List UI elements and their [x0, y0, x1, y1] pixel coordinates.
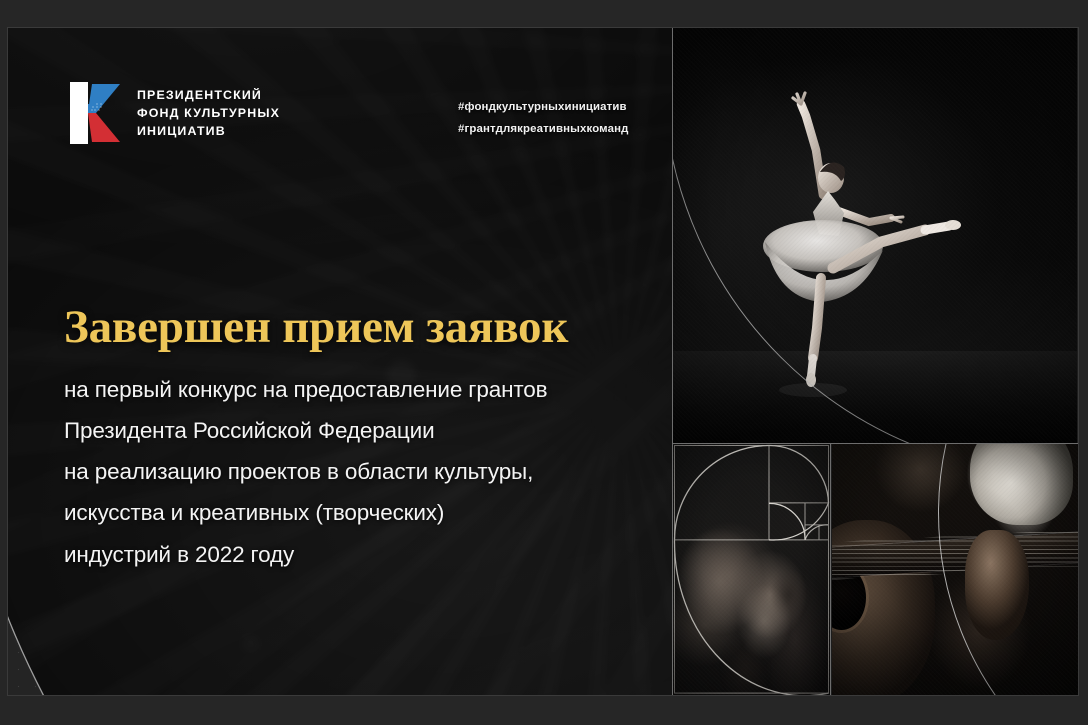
logo-lockup: ПРЕЗИДЕНТСКИЙ ФОНД КУЛЬТУРНЫХ ИНИЦИАТИВ — [66, 80, 280, 146]
copy-line-4: искусства и креативных (творческих) — [64, 492, 654, 533]
logo-wordmark: ПРЕЗИДЕНТСКИЙ ФОНД КУЛЬТУРНЫХ ИНИЦИАТИВ — [137, 86, 280, 140]
copy-line-3: на реализацию проектов в области культур… — [64, 451, 654, 492]
content-panel: ПРЕЗИДЕНТСКИЙ ФОНД КУЛЬТУРНЫХ ИНИЦИАТИВ … — [8, 28, 672, 695]
media-mosaic — [672, 28, 1078, 695]
copy-line-1: на первый конкурс на предоставление гран… — [64, 369, 654, 410]
ballerina-arabesque-photo — [673, 28, 1077, 443]
acoustic-guitar-photo — [832, 444, 1078, 695]
page-title: Завершен прием заявок — [64, 303, 654, 353]
hashtag-fund: #фондкультурныхинициатив — [458, 97, 628, 119]
presidential-fund-k-logo-icon — [66, 80, 124, 146]
poster-frame: ПРЕЗИДЕНТСКИЙ ФОНД КУЛЬТУРНЫХ ИНИЦИАТИВ … — [0, 0, 1088, 725]
announcement-copy: Завершен прием заявок на первый конкурс … — [64, 303, 654, 575]
hashtag-grant: #грантдлякреативныхкоманд — [458, 119, 628, 141]
copy-line-2: Президента Российской Федерации — [64, 410, 654, 451]
copy-line-5: индустрий в 2022 году — [64, 534, 654, 575]
fibonacci-spiral-overlay — [673, 444, 830, 695]
golden-ratio-sculpture-photo — [673, 444, 830, 695]
hashtag-group: #фондкультурныхинициатив #грантдлякреати… — [458, 97, 628, 141]
poster-canvas: ПРЕЗИДЕНТСКИЙ ФОНД КУЛЬТУРНЫХ ИНИЦИАТИВ … — [8, 28, 1078, 695]
